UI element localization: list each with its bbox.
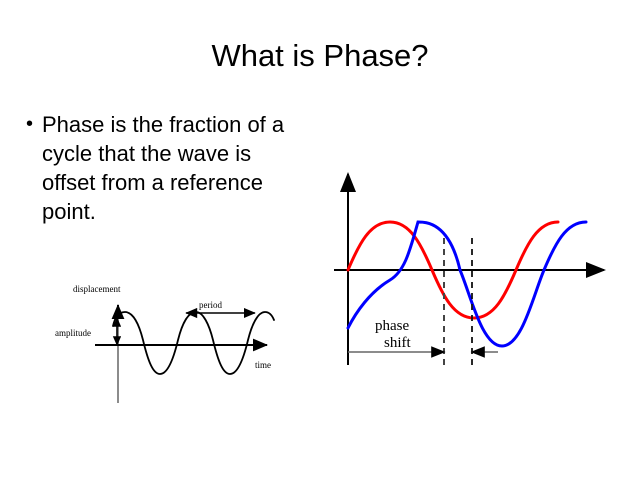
list-item: • Phase is the fraction of a cycle that … — [26, 110, 326, 226]
phase-shift-label-line1: phase — [375, 318, 409, 334]
bullet-dot-icon: • — [26, 110, 42, 139]
bullet-text: Phase is the fraction of a cycle that th… — [42, 110, 310, 226]
waveform-diagram: displacement amplitude period time — [55, 278, 295, 403]
phase-shift-diagram: phase shift — [330, 160, 615, 385]
bullet-list: • Phase is the fraction of a cycle that … — [26, 110, 326, 226]
waveform-curve — [113, 312, 274, 374]
displacement-axis-label: displacement — [73, 284, 121, 294]
amplitude-label: amplitude — [55, 328, 91, 338]
time-axis-label: time — [255, 360, 271, 370]
page-title: What is Phase? — [0, 38, 640, 74]
slide-canvas: What is Phase? • Phase is the fraction o… — [0, 0, 640, 480]
phase-shift-label-line2: shift — [384, 335, 412, 351]
period-label: period — [199, 300, 222, 310]
